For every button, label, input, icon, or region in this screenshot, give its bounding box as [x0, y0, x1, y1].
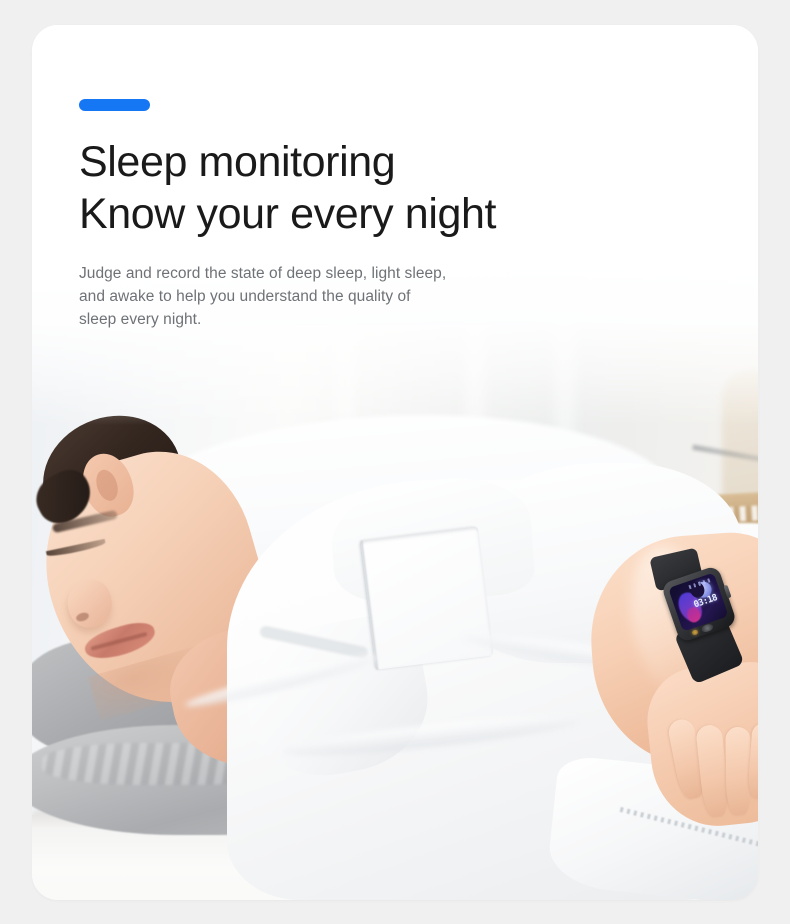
feature-text-block: Sleep monitoring Know your every night J…: [79, 99, 719, 331]
finger: [725, 727, 752, 815]
watch-led-indicator: [691, 629, 698, 636]
headline-line-2: Know your every night: [79, 188, 719, 240]
feature-description: Judge and record the state of deep sleep…: [79, 262, 451, 331]
product-feature-card: 03:18 Sleep monitoring Know your every n…: [32, 25, 758, 900]
shirt-pocket: [361, 526, 494, 669]
watch-screen: 03:18: [668, 573, 728, 632]
headline-line-1: Sleep monitoring: [79, 136, 719, 188]
page-title: Sleep monitoring Know your every night: [79, 136, 719, 240]
accent-bar: [79, 99, 150, 111]
